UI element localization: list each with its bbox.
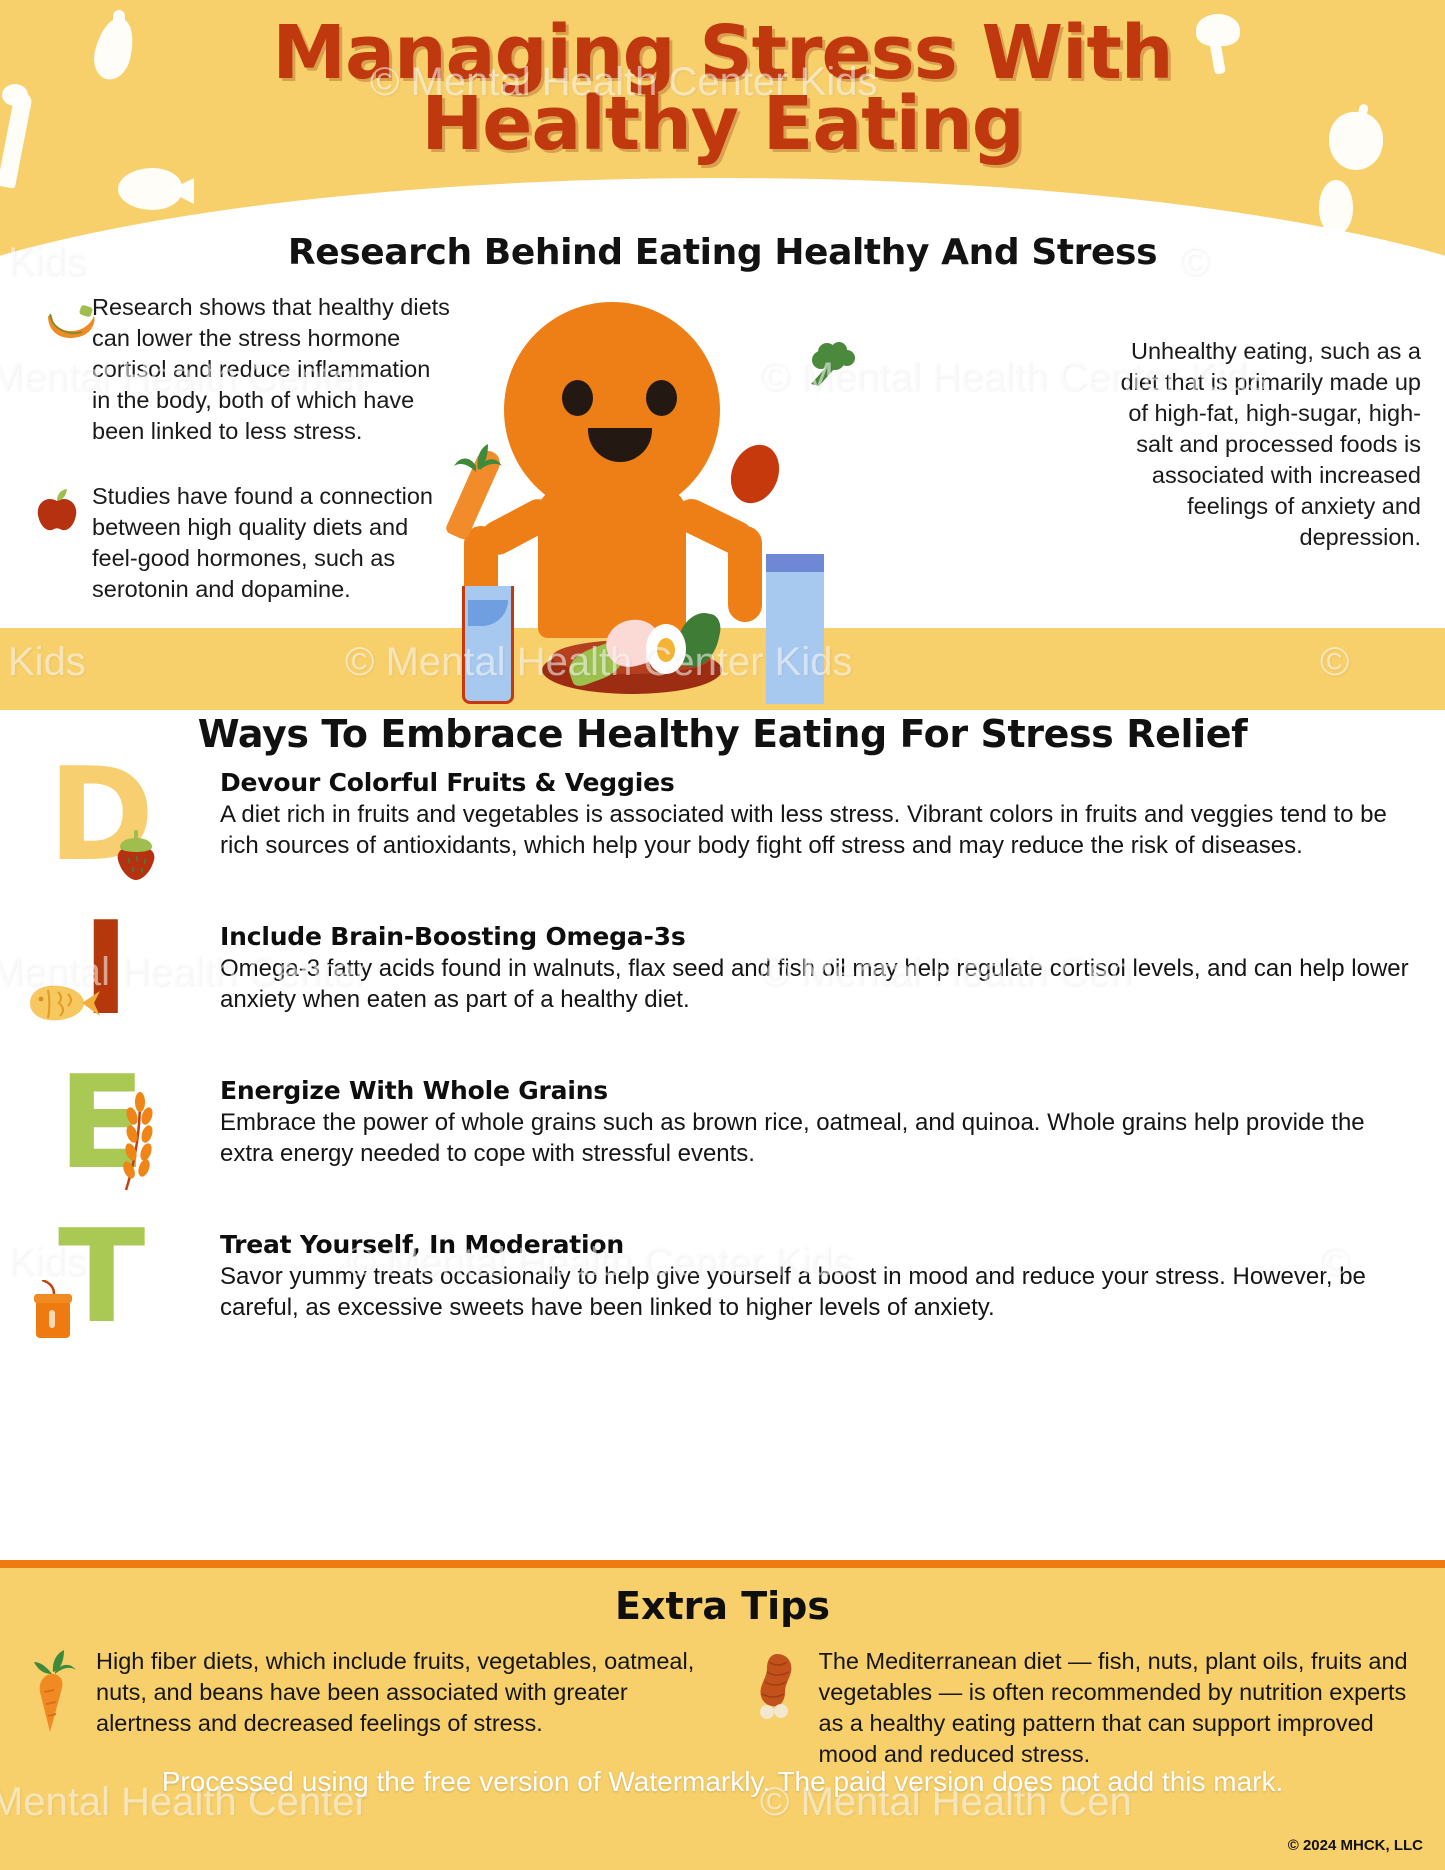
section-ways-title: Ways To Embrace Healthy Eating For Stres… bbox=[0, 712, 1445, 756]
letter-cell-i: I bbox=[0, 916, 220, 1052]
peanut-icon bbox=[751, 1652, 805, 1720]
page-title: Managing Stress With Healthy Eating bbox=[0, 18, 1445, 160]
mascot-head bbox=[504, 302, 720, 518]
research-left-column: Research shows that healthy diets can lo… bbox=[92, 292, 452, 627]
diet-heading-i: Include Brain-Boosting Omega-3s bbox=[220, 922, 1415, 951]
letter-cell-d: D bbox=[0, 762, 220, 898]
extra-tips-title: Extra Tips bbox=[0, 1584, 1445, 1628]
watermarkly-notice: Processed using the free version of Wate… bbox=[0, 1766, 1445, 1798]
extra-tips-section: Extra Tips High fiber diets, which inclu… bbox=[0, 1568, 1445, 1870]
diet-item-d: D Devour Colorful Fruits & Veggies bbox=[0, 762, 1445, 898]
diet-item-i: I Include Brain-Boosting Omega-3s Omega-… bbox=[0, 916, 1445, 1052]
drumstick-icon bbox=[1319, 180, 1353, 234]
extra-tips-columns: High fiber diets, which include fruits, … bbox=[0, 1646, 1445, 1770]
broccoli-icon bbox=[805, 340, 859, 390]
glass-of-water-icon bbox=[462, 586, 514, 704]
honey-jar-icon bbox=[30, 1280, 78, 1342]
letter-cell-e: E bbox=[0, 1070, 220, 1206]
letter-cell-t: T bbox=[0, 1224, 220, 1360]
research-paragraph-1-text: Research shows that healthy diets can lo… bbox=[92, 292, 452, 447]
research-right-column: Unhealthy eating, such as a diet that is… bbox=[1101, 336, 1421, 553]
diet-body-d: A diet rich in fruits and vegetables is … bbox=[220, 799, 1415, 861]
extra-tip-2: The Mediterranean diet — fish, nuts, pla… bbox=[723, 1646, 1445, 1770]
carrot-leaf-icon bbox=[446, 434, 504, 474]
diet-item-e: E Energize bbox=[0, 1070, 1445, 1206]
fish-icon bbox=[26, 978, 102, 1028]
egg-icon bbox=[646, 624, 686, 674]
text-cell-d: Devour Colorful Fruits & Veggies A diet … bbox=[220, 762, 1415, 861]
copyright-notice: © 2024 MHCK, LLC bbox=[1288, 1837, 1423, 1854]
extra-tip-2-text: The Mediterranean diet — fish, nuts, pla… bbox=[819, 1646, 1420, 1770]
infographic-page: Managing Stress With Healthy Eating Rese… bbox=[0, 0, 1445, 1870]
diet-acronym-list: D Devour Colorful Fruits & Veggies bbox=[0, 762, 1445, 1378]
carrot-icon bbox=[32, 1648, 80, 1734]
title-line-2: Healthy Eating bbox=[0, 89, 1445, 160]
milk-carton-icon bbox=[766, 568, 824, 704]
text-cell-t: Treat Yourself, In Moderation Savor yumm… bbox=[220, 1224, 1415, 1323]
diet-heading-d: Devour Colorful Fruits & Veggies bbox=[220, 768, 1415, 797]
mascot-right-forearm bbox=[728, 526, 762, 622]
research-paragraph-1: Research shows that healthy diets can lo… bbox=[92, 292, 452, 447]
research-paragraph-2: Studies have found a connection between … bbox=[92, 481, 452, 605]
text-cell-e: Energize With Whole Grains Embrace the p… bbox=[220, 1070, 1415, 1169]
diet-body-e: Embrace the power of whole grains such a… bbox=[220, 1107, 1415, 1169]
title-line-1: Managing Stress With bbox=[0, 18, 1445, 89]
banana-icon bbox=[42, 300, 98, 344]
extra-tips-divider bbox=[0, 1560, 1445, 1568]
extra-tip-1: High fiber diets, which include fruits, … bbox=[0, 1646, 723, 1770]
research-paragraph-2-text: Studies have found a connection between … bbox=[92, 481, 452, 605]
extra-tip-1-text: High fiber diets, which include fruits, … bbox=[96, 1646, 697, 1739]
mascot-right-eye bbox=[646, 380, 677, 416]
text-cell-i: Include Brain-Boosting Omega-3s Omega-3 … bbox=[220, 916, 1415, 1015]
diet-body-t: Savor yummy treats occasionally to help … bbox=[220, 1261, 1415, 1323]
spoon-icon bbox=[722, 438, 787, 511]
strawberry-icon bbox=[112, 830, 160, 880]
section-research-title: Research Behind Eating Healthy And Stres… bbox=[0, 232, 1445, 273]
research-right-text: Unhealthy eating, such as a diet that is… bbox=[1101, 336, 1421, 553]
apple-icon bbox=[34, 487, 80, 535]
diet-heading-t: Treat Yourself, In Moderation bbox=[220, 1230, 1415, 1259]
diet-item-t: T Treat Yourself, In Moderation Savor yu… bbox=[0, 1224, 1445, 1360]
diet-heading-e: Energize With Whole Grains bbox=[220, 1076, 1415, 1105]
mascot-left-eye bbox=[562, 380, 593, 416]
wheat-icon bbox=[118, 1092, 160, 1196]
diet-body-i: Omega-3 fatty acids found in walnuts, fl… bbox=[220, 953, 1415, 1015]
